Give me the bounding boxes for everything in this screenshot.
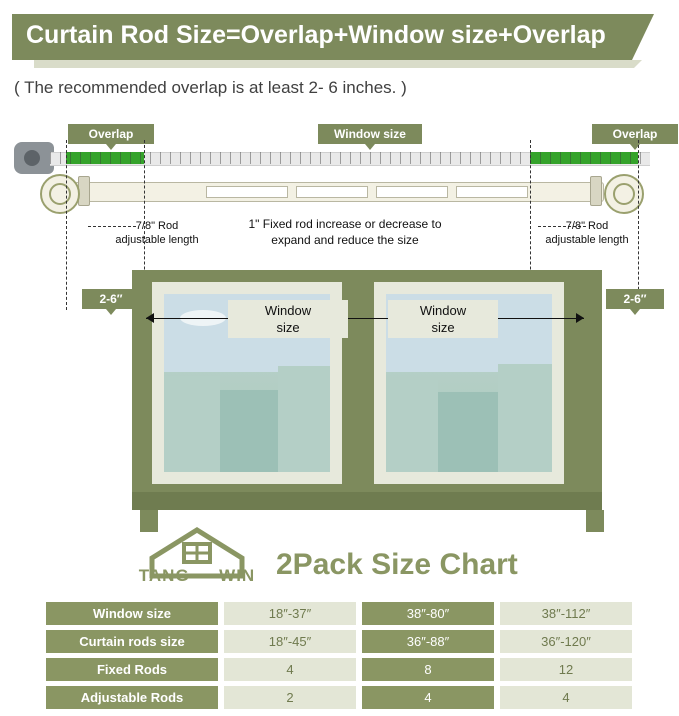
cell-curtain-rods-size-3: 36″-120″ xyxy=(500,630,632,653)
tape-measure-hole xyxy=(24,150,40,166)
rod-segment-1 xyxy=(206,186,288,198)
pane-building-c-right xyxy=(498,364,552,472)
note-right-rod-line2: adjustable length xyxy=(545,234,628,246)
cell-fixed-rods-3: 12 xyxy=(500,658,632,681)
note-left-rod: 7/8" Rod adjustable length xyxy=(82,219,232,247)
window-size-label-left-line1: Window xyxy=(265,303,311,318)
window-sill xyxy=(132,492,602,510)
brand-name-left: TANG xyxy=(139,566,190,585)
cell-window-size-3: 38″-112″ xyxy=(500,602,632,625)
pane-building-b-left xyxy=(220,390,278,472)
pane-building-c-left xyxy=(278,366,330,472)
dimension-arrow-right xyxy=(576,313,584,323)
rod-segment-4 xyxy=(456,186,528,198)
size-chart-title: 2Pack Size Chart xyxy=(276,548,518,582)
cell-curtain-rods-size-2: 36″-88″ xyxy=(362,630,494,653)
cell-adjustable-rods-3: 4 xyxy=(500,686,632,709)
cell-window-size-1: 18″-37″ xyxy=(224,602,356,625)
pane-building-a-right xyxy=(386,380,438,472)
rod-finial-right xyxy=(604,172,642,212)
row-header-curtain-rods-size: Curtain rods size xyxy=(46,630,218,653)
window-size-label-right-line1: Window xyxy=(420,303,466,318)
window-size-dimension-line xyxy=(146,318,584,319)
row-header-adjustable-rods: Adjustable Rods xyxy=(46,686,218,709)
table-row: Fixed Rods 4 8 12 xyxy=(46,658,636,681)
label-overlap-right: Overlap xyxy=(592,124,678,144)
infographic-root: Curtain Rod Size=Overlap+Window size+Ove… xyxy=(0,0,679,716)
row-header-window-size: Window size xyxy=(46,602,218,625)
note-left-rod-line2: adjustable length xyxy=(115,234,198,246)
rod-finial-left xyxy=(40,172,78,212)
size-chart-table: Window size 18″-37″ 38″-80″ 38″-112″ Cur… xyxy=(46,602,636,714)
page-title: Curtain Rod Size=Overlap+Window size+Ove… xyxy=(26,21,606,50)
rod-bracket-right xyxy=(590,176,602,206)
note-center-rod-line1: 1" Fixed rod increase or decrease to xyxy=(248,217,441,231)
window-size-label-left: Window size xyxy=(228,300,348,338)
dimension-arrow-left xyxy=(146,313,154,323)
subtitle: ( The recommended overlap is at least 2-… xyxy=(14,78,407,98)
table-row: Adjustable Rods 2 4 4 xyxy=(46,686,636,709)
title-shadow xyxy=(34,60,634,68)
label-overlap-left: Overlap xyxy=(68,124,154,144)
rod-segment-3 xyxy=(376,186,448,198)
window-size-label-left-line2: size xyxy=(276,320,299,335)
note-right-rod: 7/8" Rod adjustable length xyxy=(512,219,662,247)
row-header-fixed-rods: Fixed Rods xyxy=(46,658,218,681)
note-center-rod-line2: expand and reduce the size xyxy=(271,233,418,247)
window-leg-right xyxy=(586,510,604,532)
label-window-size-top: Window size xyxy=(318,124,422,144)
cell-adjustable-rods-1: 2 xyxy=(224,686,356,709)
cell-fixed-rods-1: 4 xyxy=(224,658,356,681)
note-left-rod-line1: 7/8" Rod xyxy=(136,220,178,232)
table-row: Window size 18″-37″ 38″-80″ 38″-112″ xyxy=(46,602,636,625)
cell-adjustable-rods-2: 4 xyxy=(362,686,494,709)
window-size-label-right: Window size xyxy=(388,300,498,338)
pane-building-b-right xyxy=(438,392,498,472)
guide-line-left-overlap xyxy=(66,140,67,310)
note-right-rod-line1: 7/8" Rod xyxy=(566,220,608,232)
brand-name-right: WIN xyxy=(219,566,255,585)
cell-window-size-2: 38″-80″ xyxy=(362,602,494,625)
tape-measure-ticks xyxy=(50,152,650,164)
window-size-label-right-line2: size xyxy=(431,320,454,335)
cell-curtain-rods-size-1: 18″-45″ xyxy=(224,630,356,653)
note-center-rod: 1" Fixed rod increase or decrease to exp… xyxy=(230,216,460,248)
pane-building-a-left xyxy=(164,376,220,472)
rod-segment-2 xyxy=(296,186,368,198)
cell-fixed-rods-2: 8 xyxy=(362,658,494,681)
label-overlap-right-measure: 2-6″ xyxy=(606,289,664,309)
table-row: Curtain rods size 18″-45″ 36″-88″ 36″-12… xyxy=(46,630,636,653)
brand-name: TANG WIN xyxy=(124,566,270,586)
